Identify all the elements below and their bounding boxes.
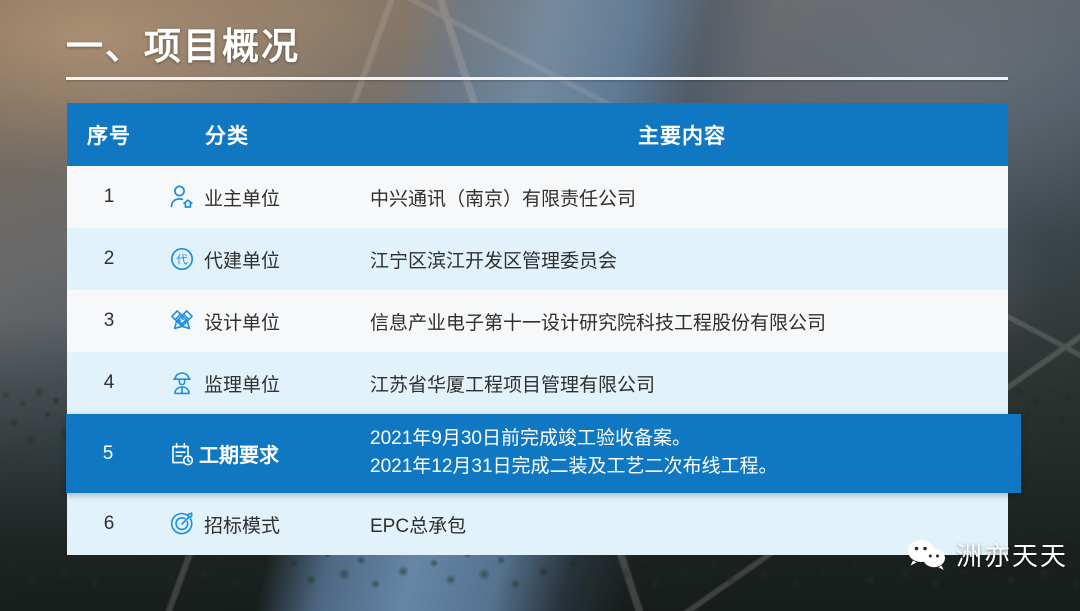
- header-no: 序号: [67, 120, 151, 150]
- table-row[interactable]: 2 代 代建单位 江宁区滨江开发区管理委员会: [67, 228, 1008, 290]
- table-row[interactable]: 4 监理单位 江苏省华厦工程项目管理有限公司: [67, 352, 1008, 414]
- row-content-cell: 中兴通讯（南京）有限责任公司: [366, 184, 1008, 211]
- table-row[interactable]: 1 业主单位 中兴通讯（南京）有限责任公司: [67, 166, 1008, 228]
- row-category-cell: 设计单位: [151, 306, 366, 336]
- row-content-cell: 江宁区滨江开发区管理委员会: [366, 246, 1008, 273]
- wechat-logo-icon: [906, 537, 948, 573]
- header-category: 分类: [151, 120, 366, 150]
- header-content: 主要内容: [366, 120, 1008, 150]
- row-number: 2: [67, 248, 151, 270]
- owner-person-house-icon: [167, 182, 197, 212]
- row-number: 1: [67, 186, 151, 208]
- row-content-text: 信息产业电子第十一设计研究院科技工程股份有限公司: [370, 313, 826, 334]
- row-content-text: 中兴通讯（南京）有限责任公司: [370, 189, 636, 210]
- project-overview-table: 序号 分类 主要内容 1 业主单位 中兴通讯（南京）有限责任公司: [67, 103, 1008, 555]
- row-content-text: EPC总承包: [370, 516, 466, 537]
- slide-canvas: 一、项目概况 序号 分类 主要内容 1 业主单位: [0, 0, 1080, 611]
- row-category-cell: 业主单位: [151, 182, 366, 212]
- title-block: 一、项目概况: [66, 26, 1008, 80]
- table-row-highlighted[interactable]: 5 工期要求 2021年9月30日前完成竣工验收备案。 2021年12月3: [66, 414, 1021, 493]
- circled-dai-character-icon: 代: [167, 244, 197, 274]
- row-number: 5: [66, 443, 150, 465]
- row-category-label: 工期要求: [199, 439, 279, 468]
- table-row[interactable]: 6 招标模式 EPC总承包: [67, 493, 1008, 555]
- row-number: 3: [67, 310, 151, 332]
- row-category-cell: 工期要求: [150, 439, 365, 469]
- row-category-label: 招标模式: [204, 511, 280, 538]
- row-category-label: 设计单位: [204, 308, 280, 335]
- helmet-worker-icon: [167, 368, 197, 398]
- pencil-ruler-cross-icon: [167, 306, 197, 336]
- row-number: 6: [67, 513, 151, 535]
- svg-text:代: 代: [176, 254, 188, 267]
- watermark-text: 洲亦天天: [956, 536, 1068, 573]
- row-content-cell: 2021年9月30日前完成竣工验收备案。 2021年12月31日完成二装及工艺二…: [365, 427, 1021, 479]
- row-content-cell: 江苏省华厦工程项目管理有限公司: [366, 370, 1008, 397]
- row-content-line1: 2021年9月30日前完成竣工验收备案。: [370, 427, 1021, 452]
- table-row[interactable]: 3 设计单位 信息产业: [67, 290, 1008, 352]
- row-category-cell: 招标模式: [151, 509, 366, 539]
- row-content-text: 江宁区滨江开发区管理委员会: [370, 251, 617, 272]
- row-content-cell: EPC总承包: [366, 511, 1008, 538]
- calendar-clock-icon: [167, 439, 197, 469]
- watermark: 洲亦天天: [906, 536, 1068, 573]
- row-content-cell: 信息产业电子第十一设计研究院科技工程股份有限公司: [366, 308, 1008, 335]
- page-title: 一、项目概况: [66, 26, 1008, 69]
- row-category-label: 监理单位: [204, 370, 280, 397]
- row-content-line2: 2021年12月31日完成二装及工艺二次布线工程。: [370, 455, 1021, 480]
- target-dart-icon: [167, 509, 197, 539]
- row-number: 4: [67, 372, 151, 394]
- row-content-text: 江苏省华厦工程项目管理有限公司: [370, 375, 655, 396]
- row-category-label: 代建单位: [204, 246, 280, 273]
- table-header-row: 序号 分类 主要内容: [67, 103, 1008, 166]
- row-category-cell: 代 代建单位: [151, 244, 366, 274]
- row-category-cell: 监理单位: [151, 368, 366, 398]
- row-category-label: 业主单位: [204, 184, 280, 211]
- title-underline: [66, 77, 1008, 80]
